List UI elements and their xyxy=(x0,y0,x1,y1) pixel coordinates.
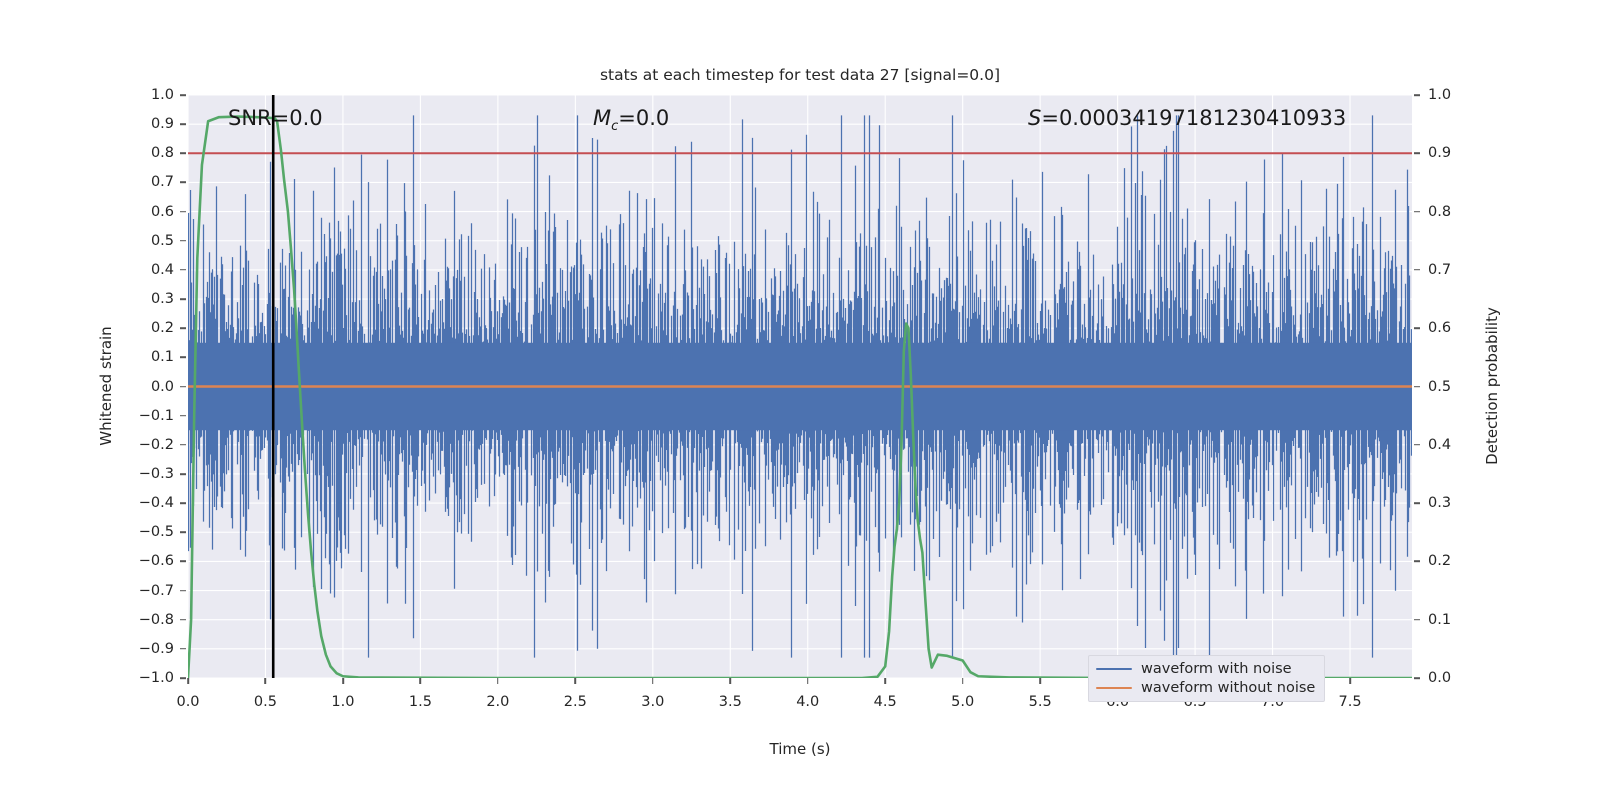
y-tick-label-left: 0.7 xyxy=(116,174,174,190)
y-tick-label-right: 0.6 xyxy=(1428,320,1488,336)
y-tick-label-left: −0.7 xyxy=(116,583,174,599)
legend[interactable]: waveform with noisewaveform without nois… xyxy=(1088,655,1325,702)
annotation-layer: SNR=0.0 Mc=0.0 S=0.00034197181230410933 xyxy=(188,95,1412,678)
x-tick-label: 1.5 xyxy=(390,694,450,710)
annotation-mc: Mc=0.0 xyxy=(593,106,669,134)
y-tick-mark-right xyxy=(1414,561,1420,563)
y-tick-label-left: 1.0 xyxy=(116,87,174,103)
y-tick-mark-left xyxy=(180,473,186,475)
y-tick-label-left: −0.9 xyxy=(116,641,174,657)
y-tick-mark-left xyxy=(180,386,186,388)
y-tick-label-left: −0.2 xyxy=(116,437,174,453)
x-tick-mark xyxy=(420,678,422,684)
x-tick-label: 3.5 xyxy=(700,694,760,710)
y-tick-mark-left xyxy=(180,444,186,446)
y-tick-mark-right xyxy=(1414,327,1420,329)
y-tick-label-right: 0.5 xyxy=(1428,379,1488,395)
y-tick-mark-left xyxy=(180,298,186,300)
y-tick-label-left: 0.4 xyxy=(116,262,174,278)
y-tick-label-left: 0.9 xyxy=(116,116,174,132)
x-tick-label: 0.0 xyxy=(158,694,218,710)
y-tick-label-right: 0.8 xyxy=(1428,204,1488,220)
chart-title: stats at each timestep for test data 27 … xyxy=(188,66,1412,84)
annotation-s: S=0.00034197181230410933 xyxy=(1028,106,1346,130)
legend-color-swatch xyxy=(1096,668,1132,671)
y-tick-mark-right xyxy=(1414,677,1420,679)
annotation-s-value: =0.00034197181230410933 xyxy=(1041,106,1346,130)
y-tick-mark-left xyxy=(180,153,186,155)
x-tick-mark xyxy=(652,678,654,684)
x-tick-label: 2.0 xyxy=(468,694,528,710)
x-tick-label: 3.0 xyxy=(623,694,683,710)
y-tick-label-left: −1.0 xyxy=(116,670,174,686)
y-tick-mark-right xyxy=(1414,94,1420,96)
y-tick-label-right: 0.4 xyxy=(1428,437,1488,453)
y-tick-mark-right xyxy=(1414,269,1420,271)
y-tick-label-left: 0.1 xyxy=(116,349,174,365)
y-tick-mark-right xyxy=(1414,444,1420,446)
x-tick-label: 0.5 xyxy=(235,694,295,710)
y-tick-mark-left xyxy=(180,561,186,563)
y-tick-label-right: 0.1 xyxy=(1428,612,1488,628)
y-tick-label-right: 0.3 xyxy=(1428,495,1488,511)
x-tick-label: 2.5 xyxy=(545,694,605,710)
annotation-s-symbol: S xyxy=(1028,106,1041,130)
y-tick-mark-left xyxy=(180,357,186,359)
x-tick-mark xyxy=(265,678,267,684)
annotation-mc-value: =0.0 xyxy=(618,106,669,130)
y-tick-mark-left xyxy=(180,590,186,592)
y-tick-mark-left xyxy=(180,240,186,242)
y-tick-label-left: 0.5 xyxy=(116,233,174,249)
y-tick-mark-left xyxy=(180,619,186,621)
y-tick-mark-left xyxy=(180,531,186,533)
y-tick-label-right: 0.2 xyxy=(1428,553,1488,569)
y-tick-mark-right xyxy=(1414,211,1420,213)
y-tick-label-left: 0.8 xyxy=(116,145,174,161)
y-tick-mark-right xyxy=(1414,153,1420,155)
legend-label: waveform with noise xyxy=(1141,661,1292,677)
x-tick-mark xyxy=(729,678,731,684)
y-tick-mark-left xyxy=(180,211,186,213)
x-tick-mark xyxy=(575,678,577,684)
x-tick-label: 7.5 xyxy=(1320,694,1380,710)
y-tick-label-left: −0.4 xyxy=(116,495,174,511)
y-tick-label-right: 0.7 xyxy=(1428,262,1488,278)
y-tick-mark-left xyxy=(180,502,186,504)
figure-canvas: stats at each timestep for test data 27 … xyxy=(0,0,1600,800)
y-tick-label-left: −0.8 xyxy=(116,612,174,628)
y-tick-mark-right xyxy=(1414,502,1420,504)
y-tick-mark-left xyxy=(180,123,186,125)
legend-label: waveform without noise xyxy=(1141,680,1315,696)
x-tick-mark xyxy=(962,678,964,684)
x-tick-mark xyxy=(1039,678,1041,684)
y-tick-label-right: 1.0 xyxy=(1428,87,1488,103)
y-tick-label-right: 0.9 xyxy=(1428,145,1488,161)
y-axis-label-left: Whitened strain xyxy=(97,326,115,445)
x-tick-mark xyxy=(187,678,189,684)
y-tick-mark-right xyxy=(1414,386,1420,388)
x-tick-label: 5.0 xyxy=(933,694,993,710)
y-tick-label-left: 0.2 xyxy=(116,320,174,336)
x-axis-label: Time (s) xyxy=(770,740,831,758)
legend-item[interactable]: waveform with noise xyxy=(1096,661,1315,677)
y-tick-mark-left xyxy=(180,415,186,417)
y-tick-mark-left xyxy=(180,94,186,96)
x-tick-mark xyxy=(497,678,499,684)
y-tick-mark-left xyxy=(180,269,186,271)
y-axis-label-right: Detection probability xyxy=(1483,307,1501,465)
x-tick-label: 1.0 xyxy=(313,694,373,710)
y-tick-label-left: −0.6 xyxy=(116,553,174,569)
y-tick-label-right: 0.0 xyxy=(1428,670,1488,686)
y-tick-mark-left xyxy=(180,182,186,184)
y-tick-label-left: 0.6 xyxy=(116,204,174,220)
x-tick-mark xyxy=(1349,678,1351,684)
legend-color-swatch xyxy=(1096,687,1132,690)
y-tick-mark-right xyxy=(1414,619,1420,621)
annotation-snr: SNR=0.0 xyxy=(228,106,323,130)
plot-area[interactable]: SNR=0.0 Mc=0.0 S=0.00034197181230410933 xyxy=(188,95,1412,678)
y-tick-label-left: −0.5 xyxy=(116,524,174,540)
y-tick-label-left: 0.3 xyxy=(116,291,174,307)
annotation-mc-symbol: M xyxy=(593,106,611,130)
x-tick-mark xyxy=(342,678,344,684)
x-tick-label: 4.0 xyxy=(778,694,838,710)
y-tick-mark-left xyxy=(180,648,186,650)
y-tick-mark-left xyxy=(180,677,186,679)
x-tick-mark xyxy=(884,678,886,684)
y-tick-mark-left xyxy=(180,327,186,329)
x-tick-label: 5.5 xyxy=(1010,694,1070,710)
y-tick-label-left: −0.3 xyxy=(116,466,174,482)
y-tick-label-left: −0.1 xyxy=(116,408,174,424)
x-tick-mark xyxy=(807,678,809,684)
x-tick-label: 4.5 xyxy=(855,694,915,710)
y-tick-label-left: 0.0 xyxy=(116,379,174,395)
legend-item[interactable]: waveform without noise xyxy=(1096,680,1315,696)
